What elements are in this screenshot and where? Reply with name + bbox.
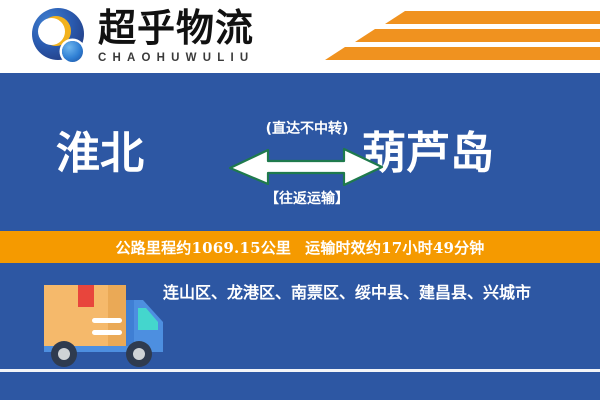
stripe-3 <box>325 47 600 60</box>
delivery-truck-icon <box>22 276 174 372</box>
banner-footer <box>0 372 600 400</box>
brand-block: 超乎物流 CHAOHUWULIU <box>98 6 254 65</box>
coverage-districts-label: 连山区、龙港区、南票区、绥中县、建昌县、兴城市 <box>163 281 588 305</box>
logo-dot-icon <box>62 41 83 62</box>
origin-city-label: 淮北 <box>56 128 144 180</box>
distance-label: 公路里程约1069.15公里 <box>115 237 291 258</box>
direct-shipping-note: (直达不中转) <box>248 118 366 138</box>
stripe-2 <box>355 29 600 42</box>
banner-header: 超乎物流 CHAOHUWULIU <box>0 0 600 73</box>
route-info-bar: 公路里程约1069.15公里 运输时效约17小时49分钟 <box>0 231 600 263</box>
logistics-route-banner: 超乎物流 CHAOHUWULIU 淮北 葫芦岛 (直达不中转) 【往返运输】 公… <box>0 0 600 400</box>
bidirectional-arrow-icon <box>228 146 384 186</box>
logo-crescent-cutout <box>38 18 65 45</box>
header-stripes-decoration <box>280 0 600 73</box>
stripe-1 <box>385 11 600 24</box>
brand-name-cn: 超乎物流 <box>98 6 254 50</box>
brand-name-en: CHAOHUWULIU <box>98 51 254 65</box>
chaohu-logistics-logo <box>32 8 90 66</box>
round-trip-note: 【往返运输】 <box>240 188 374 208</box>
duration-label: 运输时效约17小时49分钟 <box>305 237 484 258</box>
